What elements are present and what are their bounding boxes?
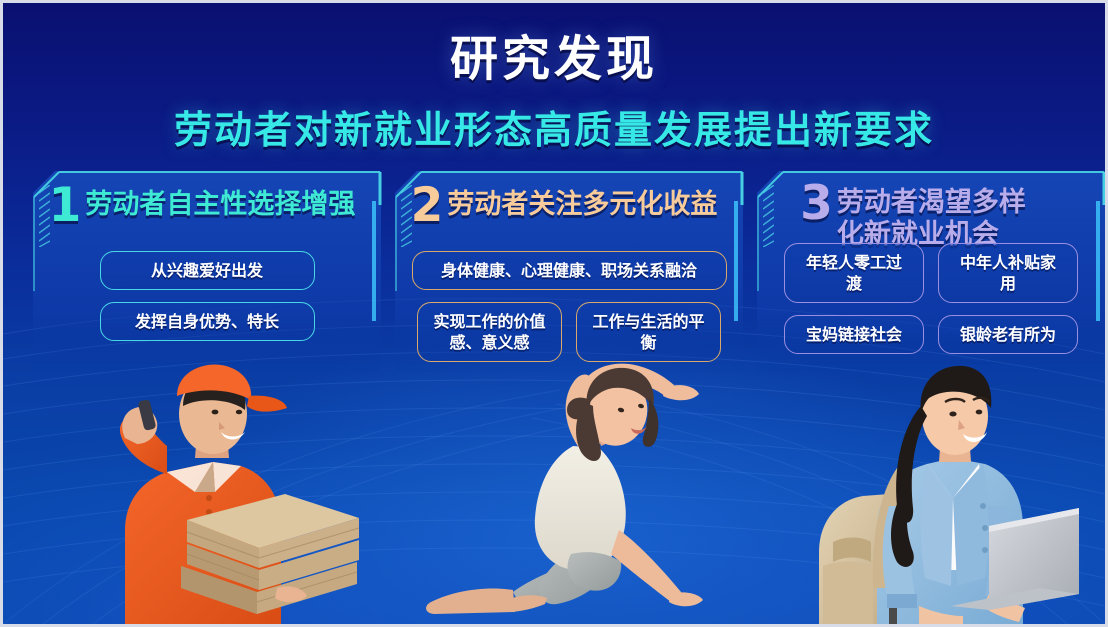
page-subtitle: 劳动者对新就业形态高质量发展提出新要求: [3, 99, 1105, 154]
card-3-heading: 3 劳动者渴望多样化新就业机会: [757, 181, 1095, 251]
card-1-heading: 1 劳动者自主性选择增强: [33, 183, 371, 228]
card-2-pill-1[interactable]: 身体健康、心理健康、职场关系融洽: [412, 251, 727, 290]
card-3[interactable]: 3 劳动者渴望多样化新就业机会 年轻人零工过渡 中年人补贴家用 宝妈链接社会 银…: [757, 171, 1105, 376]
card-3-number: 3: [800, 181, 833, 226]
card-2-pill-list: 身体健康、心理健康、职场关系融洽 实现工作的价值感、意义感 工作与生活的平衡: [395, 251, 743, 362]
card-2-number: 2: [411, 183, 444, 228]
card-3-title: 劳动者渴望多样化新就业机会: [837, 181, 1052, 251]
card-2-pill-2[interactable]: 实现工作的价值感、意义感: [417, 302, 562, 362]
card-3-pill-2[interactable]: 中年人补贴家用: [938, 243, 1078, 303]
courier-photo: [63, 362, 383, 624]
page-title: 研究发现: [3, 19, 1105, 89]
card-1-pill-1[interactable]: 从兴趣爱好出发: [100, 251, 315, 290]
card-3-pill-3[interactable]: 宝妈链接社会: [784, 315, 924, 354]
card-1[interactable]: 1 劳动者自主性选择增强 从兴趣爱好出发 发挥自身优势、特长: [33, 171, 381, 376]
student-photo: [793, 356, 1103, 624]
cards-row: 1 劳动者自主性选择增强 从兴趣爱好出发 发挥自身优势、特长: [3, 171, 1105, 381]
card-2-heading: 2 劳动者关注多元化收益: [395, 183, 733, 228]
yoga-photo: [395, 354, 725, 624]
card-3-pill-list: 年轻人零工过渡 中年人补贴家用 宝妈链接社会 银龄老有所为: [757, 243, 1105, 354]
card-1-title: 劳动者自主性选择增强: [85, 183, 355, 221]
card-1-pill-list: 从兴趣爱好出发 发挥自身优势、特长: [33, 251, 381, 341]
card-3-pill-4[interactable]: 银龄老有所为: [938, 315, 1078, 354]
card-2-title: 劳动者关注多元化收益: [447, 183, 717, 221]
card-2-pill-3[interactable]: 工作与生活的平衡: [576, 302, 721, 362]
card-1-number: 1: [49, 183, 82, 228]
card-3-pill-1[interactable]: 年轻人零工过渡: [784, 243, 924, 303]
card-2[interactable]: 2 劳动者关注多元化收益 身体健康、心理健康、职场关系融洽 实现工作的价值感、意…: [395, 171, 743, 376]
card-1-pill-2[interactable]: 发挥自身优势、特长: [100, 302, 315, 341]
infographic-poster: 研究发现 劳动者对新就业形态高质量发展提出新要求: [0, 0, 1108, 627]
